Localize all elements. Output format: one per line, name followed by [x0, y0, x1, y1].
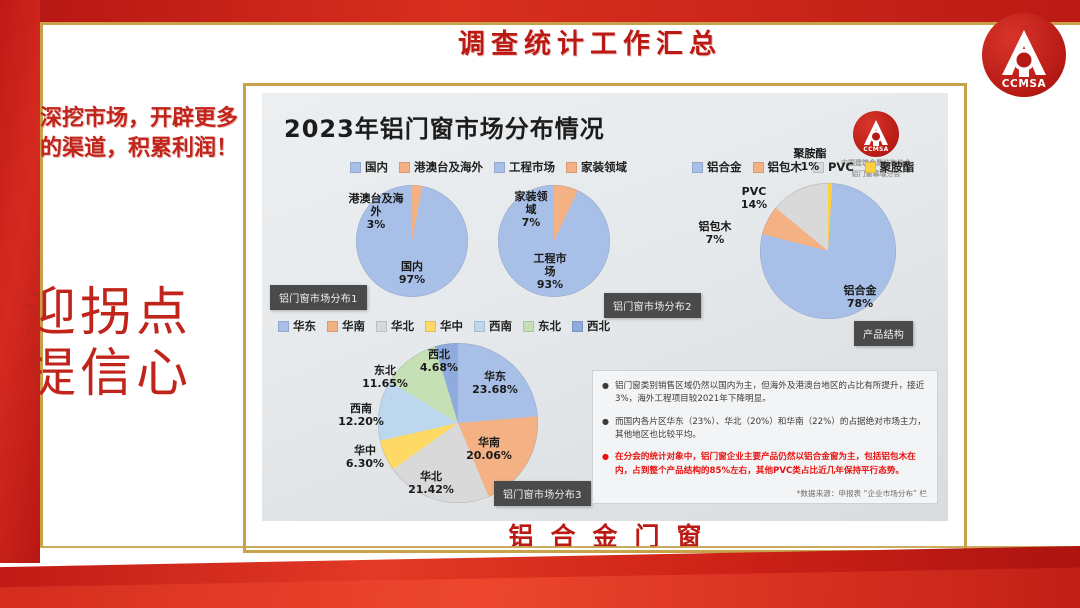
- legend-swatch: [474, 321, 485, 332]
- slice-name: 港澳台及海外: [349, 192, 404, 218]
- legend-label: 华中: [440, 318, 463, 334]
- pie1-slice-label-domestic: 国内 97%: [384, 261, 440, 287]
- pie3-slice-label-alwood: 铝包木 7%: [690, 221, 740, 247]
- left-red-band: [0, 0, 40, 563]
- inner-logo-disc: CCMSA: [853, 111, 899, 157]
- pie4-slice-label-huabei: 华北 21.42%: [402, 471, 460, 497]
- slice-name: 华东: [484, 370, 506, 383]
- legend-label: 西南: [489, 318, 512, 334]
- pie3-slice-label-alalloy: 铝合金 78%: [832, 285, 888, 311]
- legend-label: 东北: [538, 318, 561, 334]
- slice-name: 工程市场: [534, 252, 567, 278]
- pie1-slice-label-overseas: 港澳台及海外 3%: [348, 193, 404, 232]
- legend-label: 国内: [365, 159, 388, 175]
- slice-name: 西北: [428, 348, 450, 361]
- pie4-slice-label-huadong: 华东 23.68%: [466, 371, 524, 397]
- ccmsa-logo-icon: CCMSA: [982, 13, 1066, 97]
- inner-logo-label: CCMSA: [853, 146, 899, 153]
- logo-label: CCMSA: [982, 78, 1066, 90]
- legend-label: 聚胺酯: [880, 159, 915, 175]
- legend-swatch: [278, 321, 289, 332]
- data-source-note: *数据来源：申报表 “企业市场分布” 栏: [797, 488, 927, 499]
- legend-item: 国内: [350, 159, 388, 175]
- bullet-icon: ●: [602, 380, 609, 407]
- slice-value: 4.68%: [420, 361, 458, 374]
- slice-name: 铝合金: [844, 284, 877, 297]
- legend-swatch: [572, 321, 583, 332]
- legend-item: 西北: [572, 318, 610, 334]
- legend-item: 华南: [327, 318, 365, 334]
- slice-name: 聚胺酯: [794, 147, 827, 160]
- slice-value: 14%: [741, 198, 767, 211]
- slice-value: 6.30%: [346, 457, 384, 470]
- legend-item: 铝合金: [692, 159, 742, 175]
- slice-value: 11.65%: [362, 377, 408, 390]
- note-item: ● 铝门窗类别销售区域仍然以国内为主，但海外及港澳台地区的占比有所提升，接近3%…: [602, 380, 927, 407]
- legend-item: 家装领域: [566, 159, 627, 175]
- page-title: 调查统计工作汇总: [330, 22, 850, 61]
- pie3-slice-label-pvc: PVC 14%: [730, 186, 778, 212]
- slice-value: 7%: [706, 233, 725, 246]
- slice-value: 7%: [522, 216, 541, 229]
- legend-swatch: [350, 162, 361, 173]
- slice-value: 78%: [847, 297, 873, 310]
- legend-item: 东北: [523, 318, 561, 334]
- bullet-icon: ●: [602, 416, 609, 443]
- legend-item: 华北: [376, 318, 414, 334]
- slice-value: 3%: [367, 218, 386, 231]
- slice-value: 1%: [801, 160, 820, 173]
- slice-name: 东北: [374, 364, 396, 377]
- left-slogan-text: 深挖市场，开辟更多的渠道，积累利润！: [40, 103, 245, 164]
- tag-product-structure: 产品结构: [854, 321, 913, 346]
- slice-name: 华南: [478, 436, 500, 449]
- note-item: ● 而国内各片区华东（23%）、华北（20%）和华南（22%）的占据绝对市场主力…: [602, 416, 927, 443]
- slice-name: 国内: [401, 260, 423, 273]
- legend-swatch: [753, 162, 764, 173]
- note-text: 而国内各片区华东（23%）、华北（20%）和华南（22%）的占据绝对市场主力，其…: [615, 416, 927, 443]
- legend-item: 聚胺酯: [865, 159, 915, 175]
- note-item-highlighted: ● 在分会的统计对象中，铝门窗企业主要产品仍然以铝合金窗为主，包括铝包木在内，占…: [602, 451, 927, 478]
- legend-swatch: [399, 162, 410, 173]
- left-headline-line2: 提信心: [24, 344, 239, 405]
- slice-name: PVC: [742, 185, 767, 198]
- legend-item: 港澳台及海外: [399, 159, 483, 175]
- legend-label: 华南: [342, 318, 365, 334]
- legend-swatch: [566, 162, 577, 173]
- legend-swatch: [865, 162, 876, 173]
- left-headline-line1: 迎拐点: [24, 283, 239, 344]
- slice-name: 华中: [354, 444, 376, 457]
- slice-name: 铝包木: [699, 220, 732, 233]
- pie2-slice-label-home: 家装领域 7%: [508, 191, 554, 230]
- left-headline: 迎拐点 提信心: [24, 283, 239, 406]
- tag-market-distribution-1: 铝门窗市场分布1: [270, 285, 367, 310]
- bottom-gold-rule: [40, 546, 1080, 548]
- top-red-band: [40, 0, 1080, 22]
- legend-item: 华中: [425, 318, 463, 334]
- bullet-icon: ●: [602, 451, 609, 478]
- legend-swatch: [425, 321, 436, 332]
- legend-item: 工程市场: [494, 159, 555, 175]
- legend-item: 华东: [278, 318, 316, 334]
- slice-name: 华北: [420, 470, 442, 483]
- note-text: 铝门窗类别销售区域仍然以国内为主，但海外及港澳台地区的占比有所提升，接近3%，海…: [615, 380, 927, 407]
- legend-group-a: 国内 港澳台及海外 工程市场 家装领域: [350, 159, 627, 175]
- pie4-slice-label-dongbei: 东北 11.65%: [356, 365, 414, 391]
- legend-swatch: [494, 162, 505, 173]
- pie2-slice-label-project: 工程市场 93%: [524, 253, 576, 292]
- legend-label: 家装领域: [581, 159, 627, 175]
- chart-card: 2023年铝门窗市场分布情况 CCMSA 中国建筑金属结构协会 铝门窗幕墙分会 …: [262, 93, 948, 521]
- tag-market-distribution-3: 铝门窗市场分布3: [494, 481, 591, 506]
- legend-label: 铝合金: [707, 159, 742, 175]
- pie4-slice-label-huazhong: 华中 6.30%: [338, 445, 392, 471]
- slice-value: 23.68%: [472, 383, 518, 396]
- legend-item: 西南: [474, 318, 512, 334]
- tag-market-distribution-2: 铝门窗市场分布2: [604, 293, 701, 318]
- legend-label: 港澳台及海外: [414, 159, 483, 175]
- slice-value: 20.06%: [466, 449, 512, 462]
- pie3-slice-label-pu: 聚胺酯 1%: [778, 148, 842, 174]
- slice-name: 西南: [350, 402, 372, 415]
- pie4-slice-label-xibei: 西北 4.68%: [414, 349, 464, 375]
- chart-title: 2023年铝门窗市场分布情况: [284, 109, 605, 144]
- slice-value: 97%: [399, 273, 425, 286]
- slice-value: 12.20%: [338, 415, 384, 428]
- slide-root: 调查统计工作汇总 CCMSA 深挖市场，开辟更多的渠道，积累利润！ 迎拐点 提信…: [0, 0, 1080, 608]
- legend-label: 华东: [293, 318, 316, 334]
- legend-label: 华北: [391, 318, 414, 334]
- legend-swatch: [523, 321, 534, 332]
- slice-value: 21.42%: [408, 483, 454, 496]
- pie4-slice-label-huanan: 华南 20.06%: [460, 437, 518, 463]
- pie4-slice-label-xinan: 西南 12.20%: [332, 403, 390, 429]
- notes-box: ● 铝门窗类别销售区域仍然以国内为主，但海外及港澳台地区的占比有所提升，接近3%…: [592, 370, 938, 504]
- legend-label: 工程市场: [509, 159, 555, 175]
- legend-swatch: [327, 321, 338, 332]
- slice-name: 家装领域: [515, 190, 548, 216]
- note-text: 在分会的统计对象中，铝门窗企业主要产品仍然以铝合金窗为主，包括铝包木在内，占到整…: [615, 451, 927, 478]
- legend-swatch: [692, 162, 703, 173]
- legend-label: 西北: [587, 318, 610, 334]
- legend-group-c: 华东 华南 华北 华中 西南 东北 西北: [278, 318, 610, 334]
- legend-swatch: [376, 321, 387, 332]
- slice-value: 93%: [537, 278, 563, 291]
